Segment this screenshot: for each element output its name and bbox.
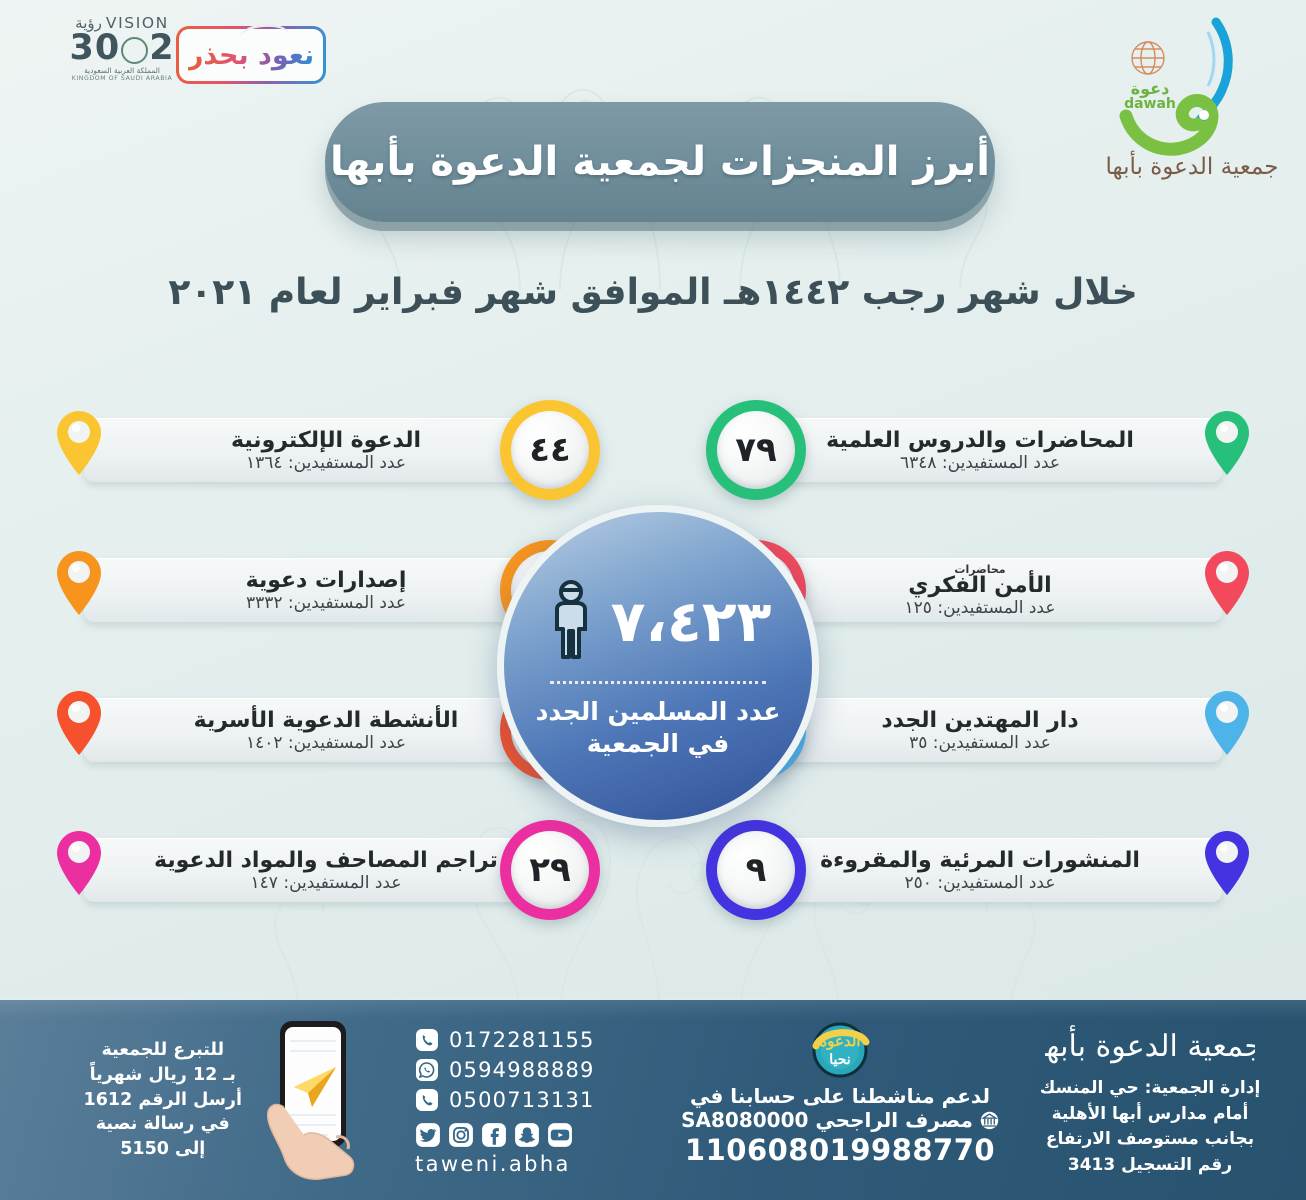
vision-logo-30: 30 [69,32,120,65]
campaign-badge-label: نعود بحذر [188,40,314,71]
stat-count-value: ٩ [717,831,795,909]
bank-iban-number: 110608019988770 [645,1133,1035,1167]
stat-count-bubble: ٤٤ [500,400,600,500]
center-label-line2: في الجمعية [536,728,781,759]
youtube-icon[interactable] [547,1122,573,1148]
stat-row: المنشورات المرئية والمقروءةعدد المستفيدي… [706,820,1266,920]
center-label-line1: عدد المسلمين الجدد [536,696,781,727]
stat-row: الدعوة الإلكترونيةعدد المستفيدين: ١٣٦٤٤٤ [40,400,600,500]
location-pin-icon [56,830,102,896]
whatsapp-icon[interactable] [415,1058,439,1082]
stat-text: محاضراتالأمن الفكريعدد المستفيدين: ١٢٥ [802,562,1158,620]
vision-logo-2: 2 [149,32,174,65]
stat-count-value: ٧٩ [717,411,795,489]
location-pin-icon [1204,830,1250,896]
address-block: جمعية الدعوة بأبها إدارة الجمعية: حي الم… [1016,1000,1284,1200]
stat-beneficiaries: عدد المستفيدين: ١٢٥ [802,599,1158,618]
phone-icon[interactable] [415,1088,439,1112]
stat-text: المنشورات المرئية والمقروءةعدد المستفيدي… [802,842,1158,900]
svg-text:نحيا: نحيا [829,1052,850,1068]
address-line-3: بجانب مستوصف الارتفاع [1016,1127,1284,1153]
svg-text:dawah: dawah [1124,96,1176,112]
stat-title: الدعوة الإلكترونية [148,429,504,454]
location-pin-icon [1204,410,1250,476]
stat-count-bubble: ٢٩ [500,820,600,920]
facebook-icon[interactable] [481,1122,507,1148]
stat-beneficiaries: عدد المستفيدين: ٢٥٠ [802,874,1158,893]
stat-title: المنشورات المرئية والمقروءة [802,849,1158,874]
contact-line[interactable]: 0500713131 [415,1088,625,1112]
contact-number[interactable]: 0500713131 [449,1088,595,1112]
dawah-calligraphy: جمعية الدعوة بأبها [1105,150,1278,180]
social-links[interactable] [415,1122,625,1148]
location-pin-icon [56,410,102,476]
stat-title: إصدارات دعوية [148,569,504,594]
svg-text:الدعوة: الدعوة [819,1032,860,1050]
person-icon [545,579,597,665]
address-line-4: رقم التسجيل 3413 [1016,1153,1284,1179]
stat-title: تراجم المصاحف والمواد الدعوية [148,849,504,874]
contact-line[interactable]: 0594988889 [415,1058,625,1082]
stat-beneficiaries: عدد المستفيدين: ١٤٠٢ [148,734,504,753]
association-wordmark: جمعية الدعوة بأبها [1045,1020,1255,1070]
stat-text: الدعوة الإلكترونيةعدد المستفيدين: ١٣٦٤ [148,422,504,480]
stat-beneficiaries: عدد المستفيدين: ٦٣٤٨ [802,454,1158,473]
donation-line-2: بـ 12 ريال شهرياً [84,1063,242,1088]
stat-beneficiaries: عدد المستفيدين: ١٣٦٤ [148,454,504,473]
contact-line[interactable]: 0172281155 [415,1028,625,1052]
donation-line-1: للتبرع للجمعية [84,1038,242,1063]
center-divider [550,681,766,684]
bank-icon [980,1111,999,1130]
instagram-icon[interactable] [448,1122,474,1148]
dawah-slogan-emblem: الدعوة نحيا [798,1016,882,1082]
stat-beneficiaries: عدد المستفيدين: ٣٥ [802,734,1158,753]
twitter-icon[interactable] [415,1122,441,1148]
stat-beneficiaries: عدد المستفيدين: ١٤٧ [148,874,504,893]
donation-line-5: إلى 5150 [84,1137,242,1162]
stat-title: دار المهتدين الجدد [802,709,1158,734]
stat-count-value: ٢٩ [511,831,589,909]
stat-text: إصدارات دعويةعدد المستفيدين: ٣٣٣٢ [148,562,504,620]
bank-block: الدعوة نحيا لدعم مناشطنا على حسابنا في م… [645,1000,1035,1200]
stat-text: الأنشطة الدعوية الأسريةعدد المستفيدين: ١… [148,702,504,760]
footer: للتبرع للجمعية بـ 12 ريال شهرياً أرسل ال… [0,1000,1306,1200]
stat-text: دار المهتدين الجددعدد المستفيدين: ٣٥ [802,702,1158,760]
stat-title: الأمن الفكري [802,574,1158,599]
bank-support-line: لدعم مناشطنا على حسابنا في [645,1084,1035,1108]
address-line-2: أمام مدارس أبها الأهلية [1016,1102,1284,1128]
page-subtitle: خلال شهر رجب ١٤٤٢هـ الموافق شهر فبراير ل… [0,272,1306,313]
location-pin-icon [1204,690,1250,756]
main-title-pill: أبرز المنجزات لجمعية الدعوة بأبها [325,102,995,222]
hand-phone-icon [250,1015,370,1185]
social-handle[interactable]: taweni.abha [415,1152,625,1176]
stat-count-bubble: ٧٩ [706,400,806,500]
bank-name: مصرف الراجحي [815,1108,972,1132]
donation-line-4: في رسالة نصية [84,1112,242,1137]
stat-row: المحاضرات والدروس العلميةعدد المستفيدين:… [706,400,1266,500]
bank-iban-prefix: SA8080000 [681,1108,808,1132]
stat-count-value: ٤٤ [511,411,589,489]
vision-logo-emblem [121,37,148,64]
location-pin-icon [56,550,102,616]
contact-number[interactable]: 0172281155 [449,1028,595,1052]
dawah-association-logo: دعوة dawah جمعية الدعوة بأبها [1104,16,1284,186]
address-line-1: إدارة الجمعية: حي المنسك [1016,1076,1284,1102]
stat-row: تراجم المصاحف والمواد الدعويةعدد المستفي… [40,820,600,920]
stat-title: المحاضرات والدروس العلمية [802,429,1158,454]
vision-logo-sub-en: KINGDOM OF SAUDI ARABIA [62,75,182,82]
donation-block: للتبرع للجمعية بـ 12 ريال شهرياً أرسل ال… [70,1000,370,1200]
contact-block: 017228115505949888890500713131taweni.abh… [415,1000,625,1200]
stat-count-bubble: ٩ [706,820,806,920]
snapchat-icon[interactable] [514,1122,540,1148]
stat-text: المحاضرات والدروس العلميةعدد المستفيدين:… [802,422,1158,480]
vision-2030-logo: VISION رؤية 2 30 المملكة العربية السعودي… [62,14,182,92]
donation-line-3: أرسل الرقم 1612 [84,1088,242,1113]
page-title: أبرز المنجزات لجمعية الدعوة بأبها [330,139,990,185]
stat-beneficiaries: عدد المستفيدين: ٣٣٣٢ [148,594,504,613]
association-wordmark-text: جمعية الدعوة بأبها [1045,1025,1255,1064]
center-value: ٧،٤٢٣ [611,589,772,655]
stat-title: الأنشطة الدعوية الأسرية [148,709,504,734]
phone-icon[interactable] [415,1028,439,1052]
contact-number[interactable]: 0594988889 [449,1058,595,1082]
stat-text: تراجم المصاحف والمواد الدعويةعدد المستفي… [148,842,504,900]
location-pin-icon [56,690,102,756]
infographic-page: VISION رؤية 2 30 المملكة العربية السعودي… [0,0,1306,1200]
location-pin-icon [1204,550,1250,616]
center-highlight-circle: ٧،٤٢٣ عدد المسلمين الجدد في الجمعية [497,505,819,827]
